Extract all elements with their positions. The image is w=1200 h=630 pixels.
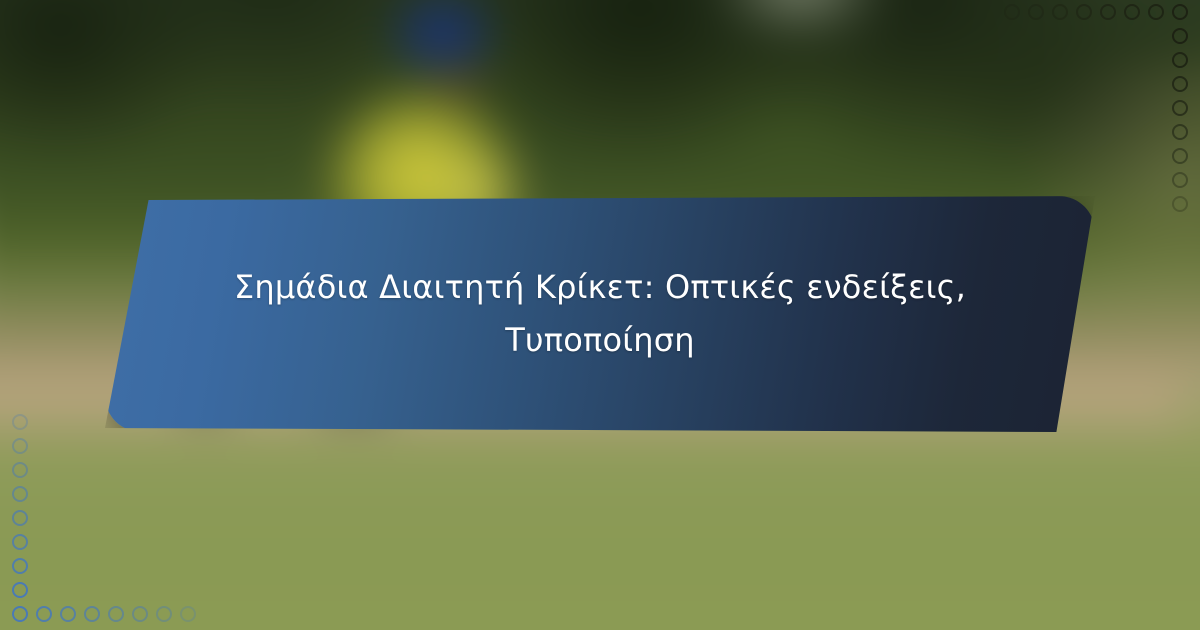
decorative-dot [1172, 28, 1188, 44]
decorative-dot [12, 486, 28, 502]
sky-gap-highlight [710, 0, 890, 40]
decorative-dot [1148, 4, 1164, 20]
decorative-dot [156, 606, 172, 622]
decorative-dot [1100, 4, 1116, 20]
decorative-dot [132, 606, 148, 622]
decorative-dot [1172, 52, 1188, 68]
decorative-dot [84, 606, 100, 622]
dot-grid-bottom-left-column [8, 410, 32, 602]
dot-grid-top-right-column [1168, 24, 1192, 216]
decorative-dot [12, 606, 28, 622]
og-image-canvas: Σημάδια Διαιτητή Κρίκετ: Οπτικές ενδείξε… [0, 0, 1200, 630]
decorative-dot [1172, 76, 1188, 92]
decorative-dot [12, 462, 28, 478]
dot-grid-top-right-row [1000, 0, 1192, 24]
decorative-dot [12, 510, 28, 526]
decorative-dot [1124, 4, 1140, 20]
title-card: Σημάδια Διαιτητή Κρίκετ: Οπτικές ενδείξε… [105, 196, 1095, 432]
decorative-dot [180, 606, 196, 622]
decorative-dot [12, 438, 28, 454]
decorative-dot [1028, 4, 1044, 20]
decorative-dot [36, 606, 52, 622]
decorative-dot [12, 414, 28, 430]
decorative-dot [1172, 100, 1188, 116]
player-cap [395, 0, 490, 67]
decorative-dot [1004, 4, 1020, 20]
decorative-dot [1172, 196, 1188, 212]
decorative-dot [12, 558, 28, 574]
decorative-dot [1052, 4, 1068, 20]
decorative-dot [1172, 4, 1188, 20]
decorative-dot [1076, 4, 1092, 20]
decorative-dot [108, 606, 124, 622]
title-card-inner: Σημάδια Διαιτητή Κρίκετ: Οπτικές ενδείξε… [190, 261, 1010, 367]
page-title: Σημάδια Διαιτητή Κρίκετ: Οπτικές ενδείξε… [190, 261, 1010, 367]
decorative-dot [1172, 172, 1188, 188]
decorative-dot [12, 534, 28, 550]
decorative-dot [1172, 148, 1188, 164]
decorative-dot [60, 606, 76, 622]
dot-grid-bottom-left-row [8, 602, 200, 626]
decorative-dot [12, 582, 28, 598]
decorative-dot [1172, 124, 1188, 140]
